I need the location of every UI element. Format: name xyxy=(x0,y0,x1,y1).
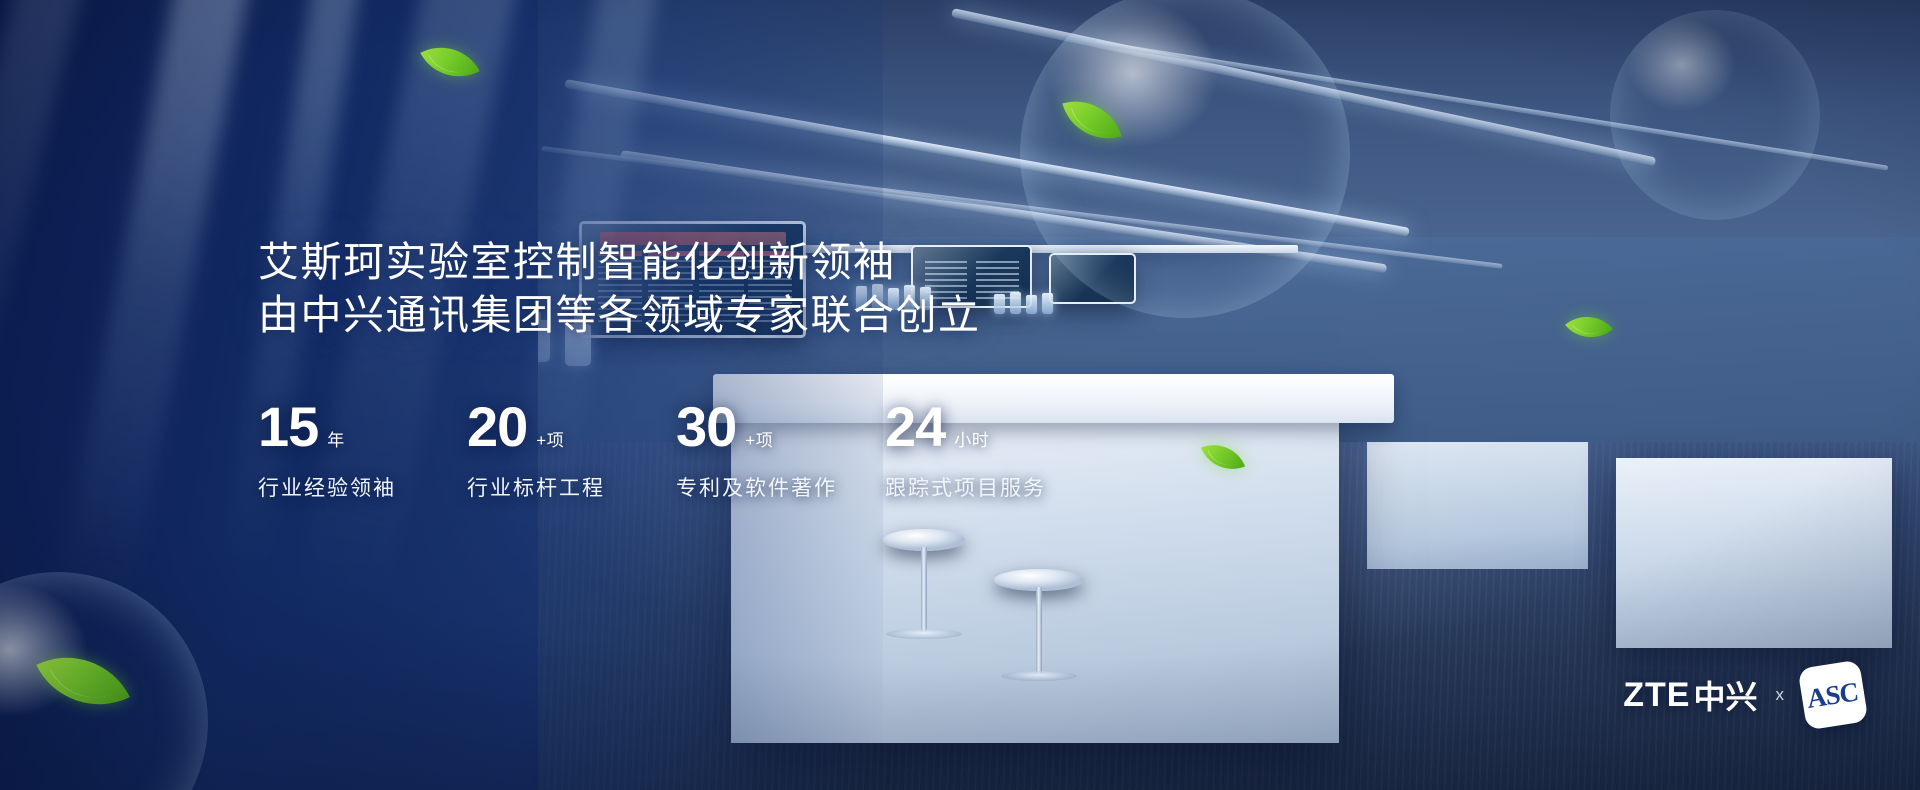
stat-label: 行业标杆工程 xyxy=(467,472,676,502)
stat-item-benchmark-projects: 20 +项 行业标杆工程 xyxy=(467,399,676,502)
stat-unit: 年 xyxy=(327,426,345,451)
stat-item-experience: 15 年 行业经验领袖 xyxy=(258,399,467,502)
stat-value-group: 15 年 xyxy=(258,399,467,455)
stat-unit: +项 xyxy=(536,426,564,451)
stat-item-service: 24 小时 跟踪式项目服务 xyxy=(885,399,1094,502)
headline-line-1: 艾斯珂实验室控制智能化创新领袖 xyxy=(258,236,1094,289)
stat-value-group: 30 +项 xyxy=(676,399,885,455)
zte-logo: ZTE 中兴 xyxy=(1623,672,1757,718)
headline-line-2: 由中兴通讯集团等各领域专家联合创立 xyxy=(258,289,1094,342)
stat-unit: 小时 xyxy=(954,426,989,451)
stats-row: 15 年 行业经验领袖 20 +项 行业标杆工程 30 +项 专利及软件著作 xyxy=(258,399,1094,502)
stat-unit: +项 xyxy=(745,426,773,451)
stat-number: 30 xyxy=(676,399,736,455)
stat-number: 20 xyxy=(467,399,527,455)
stat-label: 行业经验领袖 xyxy=(258,472,467,502)
stat-label: 专利及软件著作 xyxy=(676,472,885,502)
hero-banner: 艾斯珂实验室控制智能化创新领袖 由中兴通讯集团等各领域专家联合创立 15 年 行… xyxy=(0,0,1920,790)
partner-logo-group: ZTE 中兴 x ASC xyxy=(1623,664,1864,726)
zte-logo-chinese: 中兴 xyxy=(1693,672,1757,718)
hero-content: 艾斯珂实验室控制智能化创新领袖 由中兴通讯集团等各领域专家联合创立 15 年 行… xyxy=(258,236,1094,502)
stat-item-patents: 30 +项 专利及软件著作 xyxy=(676,399,885,502)
stat-value-group: 24 小时 xyxy=(885,399,1094,455)
asc-logo-text: ASC xyxy=(1806,676,1860,715)
stat-number: 24 xyxy=(885,399,945,455)
stat-value-group: 20 +项 xyxy=(467,399,676,455)
asc-logo: ASC xyxy=(1798,660,1869,731)
stat-label: 跟踪式项目服务 xyxy=(885,472,1094,502)
logo-separator: x xyxy=(1776,685,1785,705)
zte-logo-latin: ZTE xyxy=(1623,676,1690,715)
stat-number: 15 xyxy=(258,399,318,455)
